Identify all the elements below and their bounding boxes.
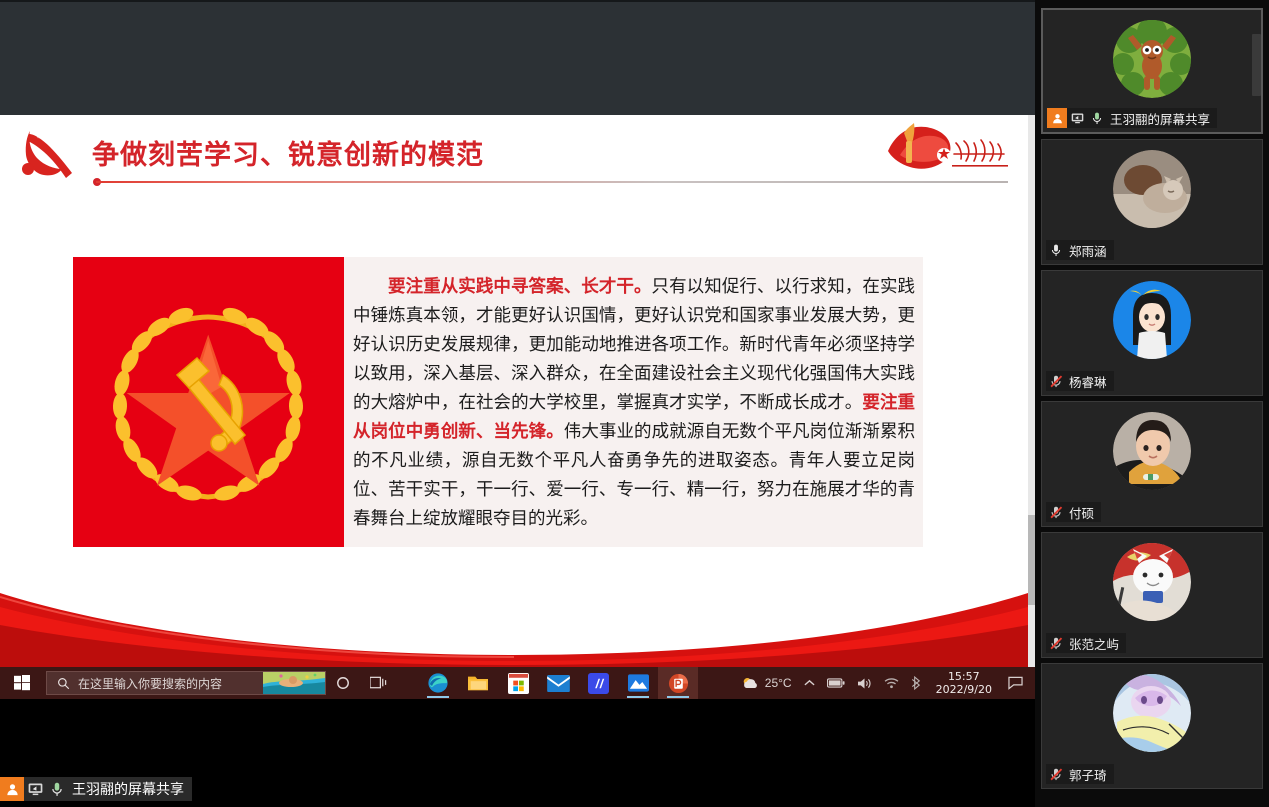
tray-bluetooth[interactable]: [905, 676, 928, 690]
task-view-button[interactable]: [360, 667, 396, 699]
notification-icon: [1008, 676, 1023, 690]
tray-temperature: 25°C: [765, 676, 792, 690]
windows-start-icon: [14, 675, 30, 691]
bluetooth-icon: [911, 676, 922, 690]
tray-show-hidden-icons[interactable]: [798, 679, 821, 687]
participant-rail[interactable]: 王羽翮的屏幕共享: [1035, 0, 1269, 807]
chevron-up-icon: [804, 679, 815, 687]
participant-tile[interactable]: 杨睿琳: [1041, 270, 1263, 396]
host-badge-icon: [0, 777, 24, 801]
avatar: [1113, 20, 1191, 98]
system-tray[interactable]: 25°C: [735, 667, 1035, 699]
participant-label: 郑雨涵: [1046, 240, 1114, 260]
battery-icon: [827, 678, 845, 688]
shared-screen-top-band: [0, 0, 1035, 115]
participant-name: 杨睿琳: [1066, 372, 1114, 391]
participant-name: 郭子琦: [1066, 765, 1114, 784]
participant-label: 郭子琦: [1046, 764, 1114, 784]
powerpoint-slide: 争做刻苦学习、锐意创新的模范: [0, 115, 1028, 667]
article-text-1: 只有以知促行、以行求知，在实践中锤炼真本领，才能更好认识国情，更好认识党和国家事…: [353, 277, 915, 413]
search-placeholder: 在这里输入你要搜索的内容: [78, 675, 222, 692]
avatar: [1113, 543, 1191, 621]
tray-volume[interactable]: [851, 677, 878, 690]
mail-icon: [547, 675, 570, 692]
screen-share-icon: [1067, 113, 1087, 124]
microphone-muted-icon: [1046, 506, 1066, 519]
edge-icon: [427, 672, 449, 694]
start-button[interactable]: [0, 667, 44, 699]
participant-label: 杨睿琳: [1046, 371, 1114, 391]
speaker-icon: [857, 677, 872, 690]
participant-tile[interactable]: 郭子琦: [1041, 663, 1263, 789]
taskbar-app-edge[interactable]: [418, 667, 458, 699]
taskbar-app-mail[interactable]: [538, 667, 578, 699]
cortana-button[interactable]: [326, 667, 360, 699]
tray-date: 2022/9/20: [936, 683, 992, 696]
screen-share-icon: [24, 783, 46, 796]
participant-tile[interactable]: 郑雨涵: [1041, 139, 1263, 265]
red-ribbon-decoration: [0, 577, 1028, 667]
photos-icon: [628, 674, 649, 692]
weather-partly-cloudy-icon: [741, 676, 761, 691]
search-icon: [57, 677, 70, 690]
tray-time: 15:57: [936, 670, 992, 683]
taskbar-app-file-explorer[interactable]: [458, 667, 498, 699]
taskbar-app-blue-a[interactable]: [578, 667, 618, 699]
taskbar-app-list[interactable]: [418, 667, 698, 699]
tray-notification-button[interactable]: [1000, 676, 1031, 690]
taskbar-app-microsoft-store[interactable]: [498, 667, 538, 699]
slide-title: 争做刻苦学习、锐意创新的模范: [92, 133, 484, 172]
microsoft-store-icon: [508, 673, 529, 694]
avatar: [1113, 674, 1191, 752]
microphone-muted-icon: [1046, 637, 1066, 650]
taskbar-app-powerpoint[interactable]: [658, 667, 698, 699]
red-flag-torch-logo-icon: [882, 121, 1010, 177]
participant-name: 郑雨涵: [1066, 241, 1114, 260]
slide-header: 争做刻苦学习、锐意创新的模范: [0, 115, 1028, 191]
avatar: [1113, 281, 1191, 359]
cortana-circle-icon: [336, 676, 350, 690]
tray-wifi[interactable]: [878, 677, 905, 689]
conference-screen: 争做刻苦学习、锐意创新的模范: [0, 0, 1269, 807]
participant-label: 付硕: [1046, 502, 1101, 522]
presenter-label-text: 王羽翮的屏幕共享: [68, 779, 192, 799]
participant-name: 王羽翮的屏幕共享: [1107, 109, 1217, 128]
party-emblem-icon: [20, 125, 82, 181]
slide-scrollbar[interactable]: [1028, 115, 1035, 667]
participant-tile[interactable]: 王羽翮的屏幕共享: [1041, 8, 1263, 134]
microphone-muted-icon: [1046, 375, 1066, 388]
participant-tile[interactable]: 张范之屿: [1041, 532, 1263, 658]
blue-a-app-icon: [588, 673, 609, 694]
taskbar-search-box[interactable]: 在这里输入你要搜索的内容: [46, 671, 326, 695]
app-running-indicator: [667, 696, 689, 698]
title-underline: [96, 181, 1008, 183]
participant-name: 付硕: [1066, 503, 1101, 522]
participant-tile[interactable]: 付硕: [1041, 401, 1263, 527]
slide-article-text: 要注重从实践中寻答案、长才干。只有以知促行、以行求知，在实践中锤炼真本领，才能更…: [345, 257, 923, 547]
microphone-icon: [1087, 112, 1107, 125]
participant-label: 张范之屿: [1046, 633, 1126, 653]
presenter-label-overlay: 王羽翮的屏幕共享: [0, 777, 192, 801]
microphone-muted-icon: [1046, 768, 1066, 781]
app-running-indicator: [627, 696, 649, 698]
article-lead-1: 要注重从实践中寻答案、长才干。: [388, 277, 652, 297]
powerpoint-icon: [668, 673, 689, 694]
host-badge-icon: [1047, 108, 1067, 128]
avatar: [1113, 412, 1191, 490]
app-running-indicator: [427, 696, 449, 698]
taskbar-app-photos[interactable]: [618, 667, 658, 699]
participant-label: 王羽翮的屏幕共享: [1047, 108, 1217, 128]
tray-clock[interactable]: 15:57 2022/9/20: [928, 670, 1000, 696]
microphone-icon: [1046, 244, 1066, 257]
participant-name: 张范之屿: [1066, 634, 1126, 653]
shared-screen-viewport[interactable]: 争做刻苦学习、锐意创新的模范: [0, 0, 1035, 807]
party-emblem-image: [73, 257, 344, 547]
windows-taskbar[interactable]: 在这里输入你要搜索的内容: [0, 667, 1035, 699]
slide-scrollbar-thumb[interactable]: [1028, 515, 1035, 605]
file-explorer-icon: [467, 673, 489, 693]
task-view-icon: [370, 676, 387, 690]
microphone-icon: [46, 782, 68, 797]
search-decoration-art: [263, 672, 325, 694]
rail-scrollbar-thumb[interactable]: [1252, 34, 1261, 96]
top-divider: [0, 0, 1035, 2]
tray-battery[interactable]: [821, 678, 851, 688]
wifi-icon: [884, 677, 899, 689]
tray-weather[interactable]: 25°C: [735, 676, 798, 691]
avatar: [1113, 150, 1191, 228]
